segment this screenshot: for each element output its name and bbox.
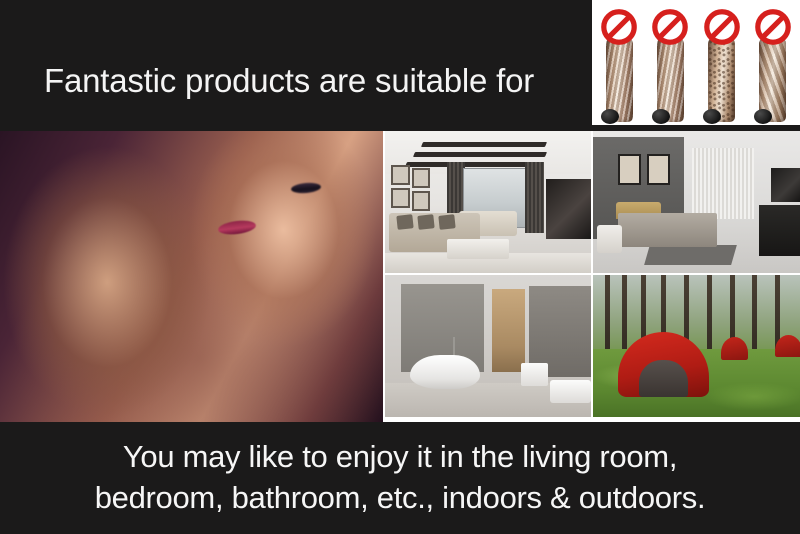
product-item-3 (699, 4, 745, 122)
bathroom-shower-niche (492, 289, 525, 371)
product-base-1 (601, 109, 619, 124)
bedroom-bed (618, 213, 717, 247)
product-silhouette-1 (606, 36, 633, 122)
headline-line-1: Fantastic products are suitable for (30, 60, 610, 102)
living-room-cushion (417, 214, 435, 230)
product-silhouette-2 (657, 36, 684, 122)
living-room-wall-frame (412, 191, 431, 211)
living-room-beam (405, 162, 543, 167)
bedroom-tv (771, 168, 800, 202)
living-room-wall-frame (412, 168, 431, 188)
product-item-4 (750, 4, 796, 122)
couple-photo: couple embracing close-up (0, 131, 383, 422)
living-room-wall-frame (391, 165, 410, 185)
footer-band: You may like to enjoy it in the living r… (0, 422, 800, 534)
product-silhouette-3 (708, 36, 735, 122)
bathroom-toilet (521, 363, 548, 386)
prohibition-icon (703, 8, 741, 46)
footer-text: You may like to enjoy it in the living r… (0, 436, 800, 518)
couple-eye-detail (291, 182, 322, 195)
bathroom-basin (550, 380, 591, 403)
footer-line-2: bedroom, bathroom, etc., indoors & outdo… (0, 477, 800, 518)
prohibition-icon (600, 8, 638, 46)
couple-lip-detail (218, 219, 257, 237)
photo-collage: couple embracing close-up modern living … (0, 131, 800, 422)
prohibition-icon (754, 8, 792, 46)
bedroom-rug (644, 245, 737, 265)
living-room-wall-frame (391, 188, 410, 208)
product-item-1 (596, 4, 642, 122)
product-silhouette-4 (759, 36, 786, 122)
product-strip (592, 0, 800, 125)
bedroom-nightstand (597, 225, 622, 253)
product-item-2 (647, 4, 693, 122)
bedroom-wall-frame (618, 154, 641, 185)
bathroom-photo: tiled bathroom with freestanding tub (385, 275, 591, 417)
product-base-4 (754, 109, 772, 124)
outdoors-photo: red tent camping in pine forest (593, 275, 800, 417)
bedroom-cabinet (759, 205, 800, 256)
living-room-photo: modern living room (385, 131, 591, 273)
living-room-tv-unit (546, 179, 591, 239)
product-base-2 (652, 109, 670, 124)
outdoors-distant-tent (775, 335, 800, 358)
footer-line-1: You may like to enjoy it in the living r… (0, 436, 800, 477)
prohibition-icon (651, 8, 689, 46)
living-room-beam (421, 142, 547, 147)
living-room-curtain (525, 162, 544, 233)
living-room-cushion (397, 214, 415, 230)
living-room-cushion (438, 214, 456, 230)
product-base-3 (703, 109, 721, 124)
advertisement-banner: Fantastic products are suitable for diff… (0, 0, 800, 534)
bedroom-window-blind (692, 148, 754, 219)
bedroom-wall-frame (647, 154, 670, 185)
outdoors-tent-door (639, 360, 689, 397)
living-room-coffee-table (447, 239, 509, 259)
bedroom-photo: modern grey bedroom (593, 131, 800, 273)
outdoors-distant-tent (721, 337, 748, 360)
bathroom-bathtub (410, 355, 480, 389)
living-room-beam (413, 152, 547, 157)
